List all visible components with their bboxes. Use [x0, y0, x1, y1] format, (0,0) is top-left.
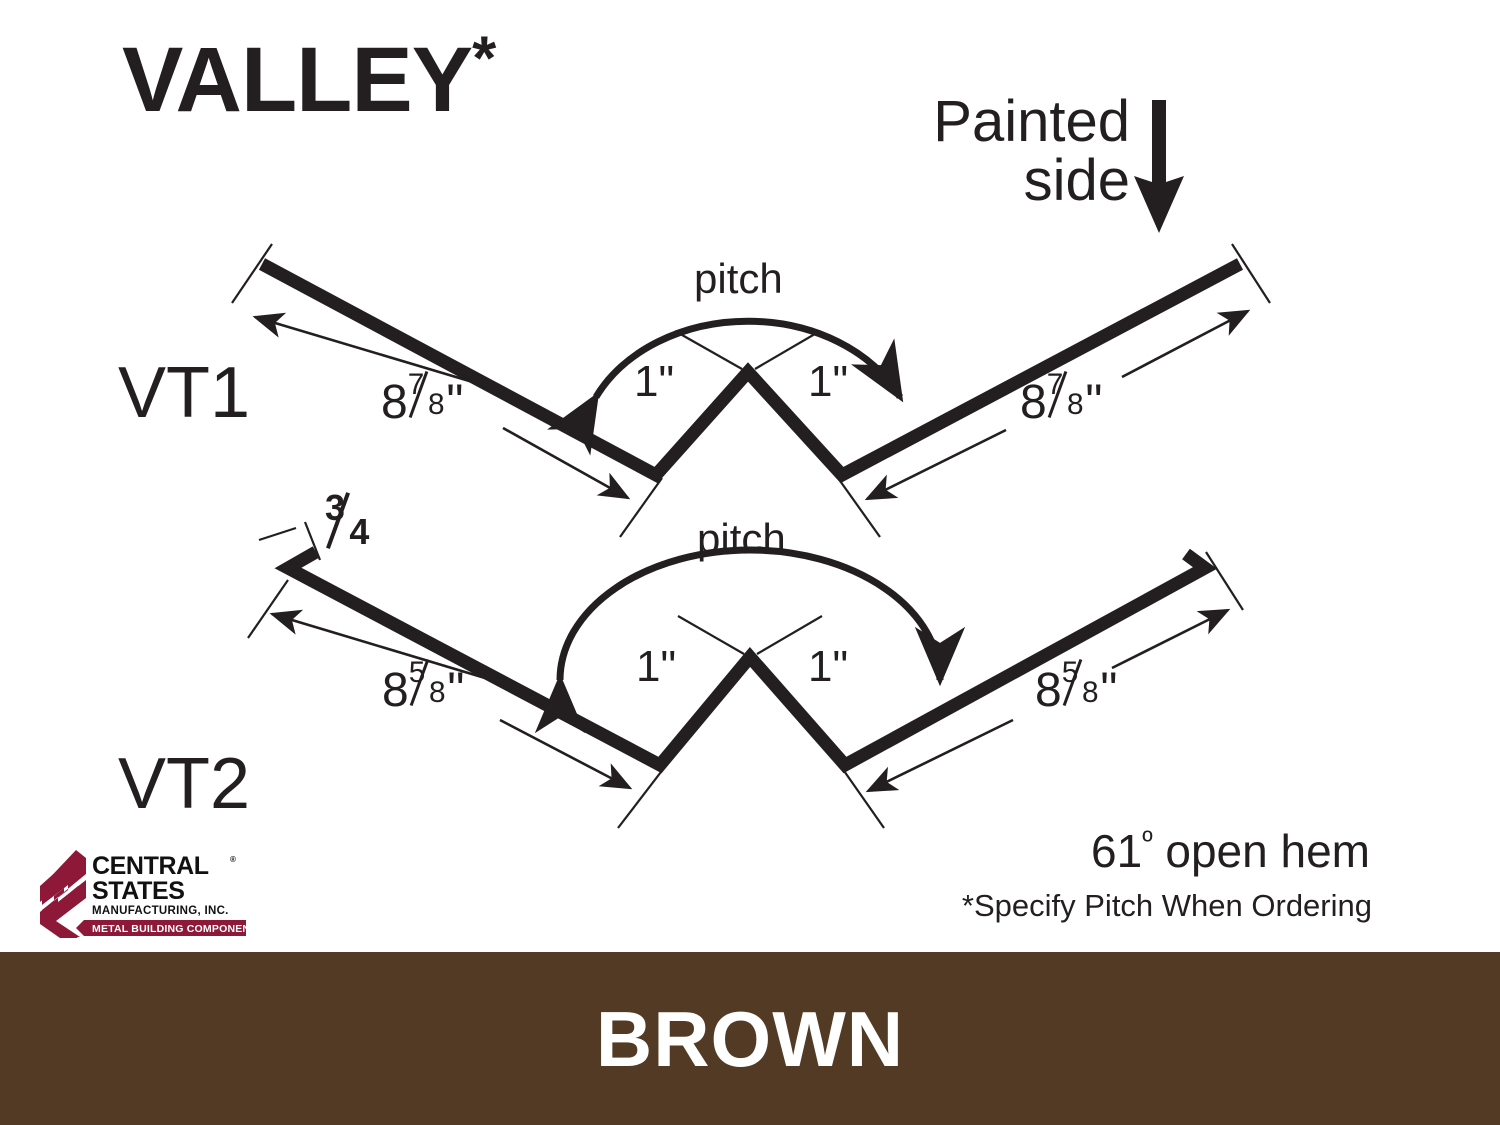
logo-line-states: STATES [92, 877, 185, 905]
vt2-right-dim-unit: " [1100, 664, 1117, 717]
degree-icon: º [1142, 826, 1152, 858]
vt2-left-dimension-label: 858" [382, 667, 464, 715]
open-hem-angle: 61 [1091, 825, 1142, 877]
vt2-left-dim-whole: 8 [382, 664, 409, 717]
vt1-pitch-label: pitch [694, 258, 783, 300]
central-states-s-mark-icon [40, 850, 86, 938]
profile-label-vt1: VT1 [118, 357, 250, 429]
vt2-right-dim-fraction: 58 [1062, 676, 1101, 706]
vt2-peak-right-dimension-label: 1" [808, 645, 848, 689]
vt2-left-dim-fraction: 58 [409, 676, 448, 706]
page-title-text: VALLEY [122, 29, 472, 131]
vt2-right-dim-whole: 8 [1035, 664, 1062, 717]
logo-tagline-text: METAL BUILDING COMPONENTS [92, 923, 246, 935]
vt2-right-dimension-label: 858" [1035, 667, 1117, 715]
vt1-peak-right-dimension-label: 1" [808, 360, 848, 404]
vt1-left-dim-fraction: 78 [408, 388, 447, 418]
vt1-left-dimension-label: 878" [381, 379, 463, 427]
specify-pitch-note: *Specify Pitch When Ordering [962, 888, 1372, 924]
vt1-left-dim-unit: " [446, 376, 463, 429]
vt1-left-dim-whole: 8 [381, 376, 408, 429]
vt2-peak-left-dimension-label: 1" [636, 645, 676, 689]
painted-side-label: Painted side [820, 92, 1130, 210]
central-states-logo: CENTRAL ® STATES MANUFACTURING, INC. MET… [34, 846, 246, 938]
color-footer-bar: BROWN [0, 952, 1500, 1125]
vt2-right-dim-denominator: 8 [1082, 678, 1099, 708]
page-title: VALLEY* [122, 34, 495, 126]
painted-side-arrow-icon [1134, 100, 1184, 233]
vt1-right-dim-fraction: 78 [1047, 388, 1086, 418]
logo-tagline-bar: METAL BUILDING COMPONENTS [76, 920, 246, 936]
vt2-left-dim-denominator: 8 [429, 678, 446, 708]
vt1-right-dimension-label: 878" [1020, 379, 1102, 427]
page-title-asterisk: * [472, 24, 495, 93]
vt1-right-dim-whole: 8 [1020, 376, 1047, 429]
vt2-left-dim-unit: " [447, 664, 464, 717]
vt1-right-dim-denominator: 8 [1067, 390, 1084, 420]
vt1-left-dim-denominator: 8 [428, 390, 445, 420]
vt2-pitch-label: pitch [697, 518, 786, 560]
vt1-peak-left-dimension-label: 1" [634, 360, 674, 404]
logo-line-manufacturing: MANUFACTURING, INC. [92, 905, 229, 917]
valley-trim-spec-sheet: VALLEY* Painted side VT1 VT2 878" 878" p… [0, 0, 1500, 1125]
vt2-hem-fraction: 34 [325, 513, 373, 549]
vt2-hem-dimension-label: 34 [325, 510, 373, 556]
logo-line-central: CENTRAL [92, 852, 209, 880]
open-hem-text: open hem [1153, 825, 1370, 877]
profile-label-vt2: VT2 [118, 748, 250, 820]
vt2-hem-denominator: 4 [349, 515, 369, 551]
color-name-label: BROWN [596, 1000, 904, 1078]
logo-registered-mark: ® [230, 855, 236, 864]
open-hem-note: 61º open hem [1091, 824, 1370, 878]
vt1-right-dim-unit: " [1085, 376, 1102, 429]
